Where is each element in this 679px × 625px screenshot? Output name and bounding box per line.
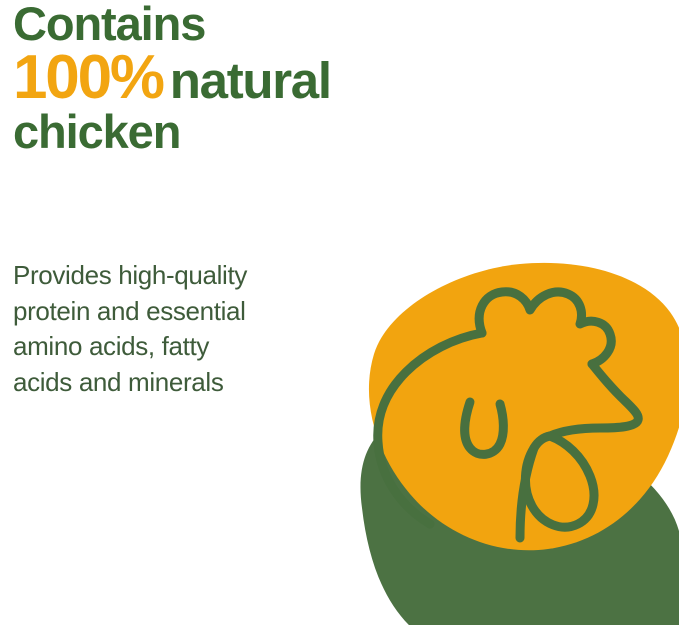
- chicken-illustration: [352, 250, 679, 625]
- headline-natural: natural: [170, 57, 331, 105]
- headline-line-chicken: chicken: [13, 110, 513, 155]
- headline-percent: 100%: [13, 49, 163, 108]
- body-line: Provides high-quality: [13, 258, 333, 294]
- body-line: amino acids, fatty: [13, 329, 333, 365]
- headline-line-percent-natural: 100% natural: [13, 49, 513, 108]
- headline-line-contains: Contains: [13, 2, 513, 47]
- body-line: protein and essential: [13, 294, 333, 330]
- body-copy: Provides high-quality protein and essent…: [13, 258, 333, 400]
- promo-card: Contains 100% natural chicken Provides h…: [0, 0, 679, 625]
- headline: Contains 100% natural chicken: [13, 2, 513, 154]
- body-line: acids and minerals: [13, 365, 333, 401]
